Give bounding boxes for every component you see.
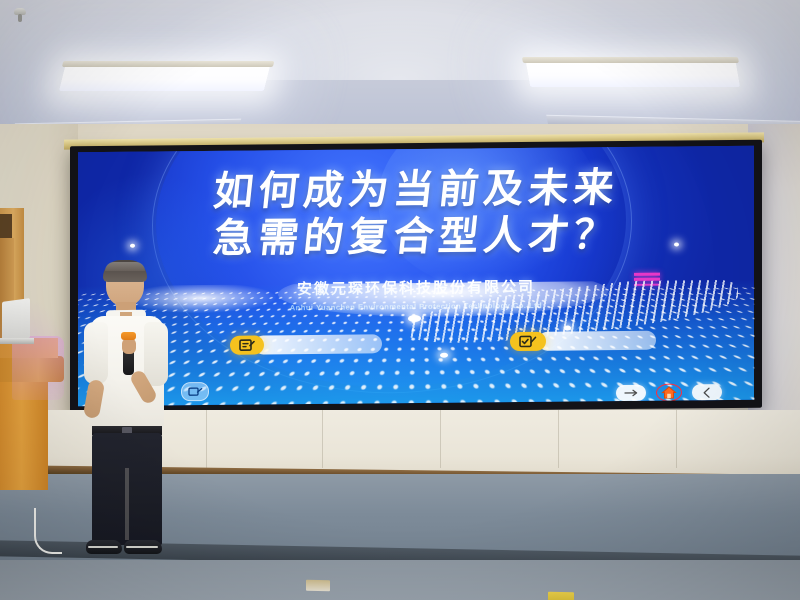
laptop-base bbox=[0, 338, 34, 344]
home-icon bbox=[661, 385, 677, 399]
floor-outlet-cover-yellow[interactable] bbox=[548, 592, 574, 600]
podium-light-glow bbox=[12, 336, 64, 400]
microphone-band bbox=[121, 332, 136, 340]
wall-seam-3 bbox=[440, 410, 441, 468]
presenter-hair-highlight bbox=[105, 262, 145, 271]
checklist-badge-icon bbox=[519, 335, 537, 348]
document-badge-icon bbox=[239, 339, 256, 352]
sparkle-5 bbox=[674, 242, 679, 246]
badge-left-tail bbox=[254, 334, 382, 354]
room-floor bbox=[0, 560, 800, 600]
shoe-stripe-left bbox=[88, 546, 118, 548]
shoe-stripe-right bbox=[126, 546, 158, 548]
laptop-on-podium[interactable] bbox=[2, 298, 30, 342]
corner-tag-icon[interactable] bbox=[181, 382, 209, 401]
ceiling-panel-light-right bbox=[526, 62, 740, 87]
wall-seam-5 bbox=[676, 410, 677, 468]
wall-seam-4 bbox=[558, 410, 559, 468]
wall-seam-1 bbox=[206, 410, 207, 468]
presenter-sleeve-right bbox=[144, 322, 168, 386]
presenter bbox=[78, 262, 174, 558]
badge-right-tail bbox=[538, 331, 656, 351]
slide-title-line2: 急需的复合型人才？ bbox=[78, 213, 754, 263]
presentation-room-photo: 如何成为当前及未来 急需的复合型人才？ 安徽元琛环保科技股份有限公司 Anhui… bbox=[0, 0, 800, 600]
home-button[interactable] bbox=[654, 384, 684, 400]
forward-button[interactable] bbox=[616, 385, 646, 401]
ceiling-panel-light-left bbox=[59, 66, 270, 91]
led-screen-display[interactable]: 如何成为当前及未来 急需的复合型人才？ 安徽元琛环保科技股份有限公司 Anhui… bbox=[78, 146, 754, 406]
presenter-sleeve-left bbox=[84, 322, 108, 384]
badge-right[interactable] bbox=[510, 332, 546, 351]
presenter-hand bbox=[122, 338, 136, 354]
floor-outlet-cover-brass[interactable] bbox=[306, 580, 330, 591]
sprinkler-icon bbox=[12, 8, 28, 24]
wall-seam-2 bbox=[322, 410, 323, 468]
back-button[interactable] bbox=[692, 384, 722, 400]
presenter-leg-gap bbox=[125, 468, 129, 540]
sparkle-4 bbox=[130, 244, 135, 248]
slide-title: 如何成为当前及未来 急需的复合型人才？ bbox=[78, 166, 754, 263]
sparkle-2 bbox=[440, 353, 448, 358]
power-cable bbox=[34, 508, 62, 554]
badge-left[interactable] bbox=[230, 335, 264, 354]
slide-title-line1: 如何成为当前及未来 bbox=[78, 166, 754, 216]
sparkle-3 bbox=[564, 326, 571, 331]
